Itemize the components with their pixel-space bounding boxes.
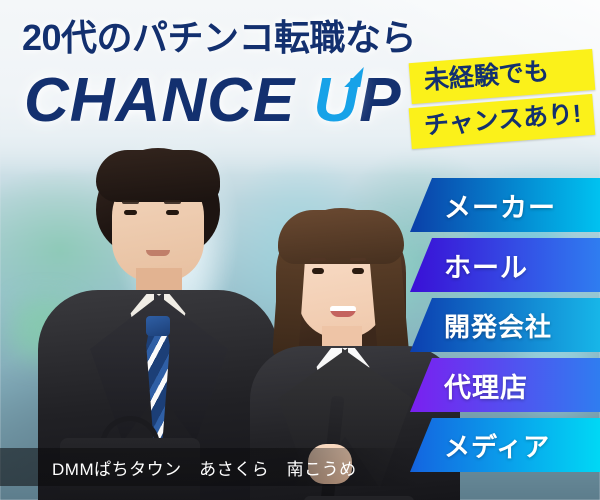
credit-strip: DMMぱちタウン あさくら 南こうめ xyxy=(0,448,420,486)
recruitment-banner[interactable]: 20代のパチンコ転職なら CHANCE UP 未経験でも チャンスあり! メーカ… xyxy=(0,0,600,500)
category-label-developer: 開発会社 xyxy=(444,307,552,344)
category-item-media[interactable]: メディア xyxy=(410,418,600,472)
logo-prefix: CHANCE xyxy=(24,66,313,135)
category-list: メーカー ホール 開発会社 代理店 メディア xyxy=(410,178,600,478)
headline-text: 20代のパチンコ転職なら xyxy=(22,16,416,60)
category-label-maker: メーカー xyxy=(444,186,556,225)
credit-text: DMMぱちタウン あさくら 南こうめ xyxy=(0,455,357,480)
category-label-agency: 代理店 xyxy=(444,366,528,405)
chance-up-logo: CHANCE UP xyxy=(24,66,402,136)
category-item-agency[interactable]: 代理店 xyxy=(410,358,600,412)
category-item-developer[interactable]: 開発会社 xyxy=(410,298,600,352)
category-label-hall: ホール xyxy=(444,246,528,285)
category-item-maker[interactable]: メーカー xyxy=(410,178,600,232)
category-label-media: メディア xyxy=(444,427,550,464)
category-item-hall[interactable]: ホール xyxy=(410,238,600,292)
logo-suffix: P xyxy=(359,66,401,135)
no-experience-badge: 未経験でも チャンスあり! xyxy=(410,56,594,142)
logo-u-letter: U xyxy=(313,66,359,136)
